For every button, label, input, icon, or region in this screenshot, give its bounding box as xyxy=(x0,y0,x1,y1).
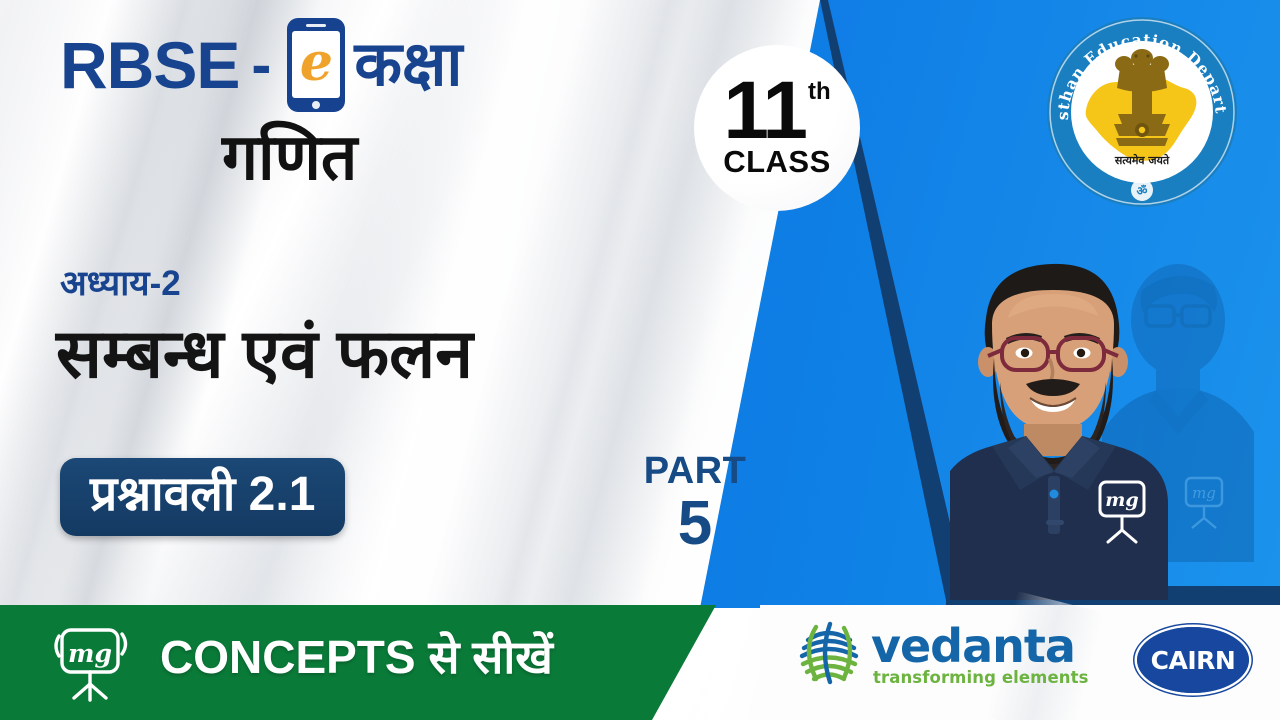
mobile-phone-icon: e xyxy=(287,18,345,112)
subject-title: गणित xyxy=(222,125,357,189)
brand-header: RBSE - e कक्षा xyxy=(60,18,463,112)
class-badge: 11 th CLASS xyxy=(694,45,860,211)
vedanta-text: vedanta transforming elements xyxy=(871,620,1089,687)
class-number: 11 xyxy=(723,76,806,147)
svg-text:ॐ: ॐ xyxy=(1137,184,1148,198)
part-number: 5 xyxy=(630,492,760,555)
footer-tagline: CONCEPTS से सीखें xyxy=(160,632,553,683)
svg-text:mg: mg xyxy=(1105,489,1138,511)
mg-brand-icon: mg xyxy=(52,622,138,702)
svg-text:mg: mg xyxy=(68,639,112,668)
phone-speaker-icon xyxy=(306,24,326,27)
vedanta-logo: vedanta transforming elements xyxy=(796,620,1089,687)
svg-text:सत्यमेव जयते: सत्यमेव जयते xyxy=(1114,153,1170,167)
part-label: PART xyxy=(630,452,760,490)
phone-home-button-icon xyxy=(312,101,320,109)
svg-text:mg: mg xyxy=(1192,484,1216,502)
portal-suffix: कक्षा xyxy=(354,34,462,96)
exercise-badge[interactable]: प्रश्नावली 2.1 xyxy=(60,458,345,536)
board-name: RBSE xyxy=(60,32,239,98)
cairn-logo: CAIRN xyxy=(1137,627,1249,693)
phone-screen: e xyxy=(292,31,340,98)
chapter-number: अध्याय-2 xyxy=(60,266,181,301)
vedanta-globe-icon xyxy=(796,620,862,686)
instructor-photos: mg xyxy=(950,232,1280,600)
part-indicator: PART 5 xyxy=(630,452,760,555)
vedanta-name: vedanta xyxy=(871,625,1089,667)
vedanta-tagline: transforming elements xyxy=(873,670,1089,687)
thumbnail-canvas: RBSE - e कक्षा गणित 11 th CLASS Ra xyxy=(0,0,1280,720)
exercise-badge-label: प्रश्नावली 2.1 xyxy=(90,468,315,521)
class-ordinal: th xyxy=(808,82,831,103)
brand-dash: - xyxy=(251,35,271,95)
class-number-row: 11 th xyxy=(723,76,830,147)
class-label: CLASS xyxy=(723,144,831,180)
rajasthan-education-department-seal: Rajasthan Education Department सत्यमेव xyxy=(1044,14,1240,210)
cairn-name: CAIRN xyxy=(1151,646,1236,675)
e-letter: e xyxy=(300,37,333,89)
chapter-title: सम्बन्ध एवं फलन xyxy=(56,318,473,390)
